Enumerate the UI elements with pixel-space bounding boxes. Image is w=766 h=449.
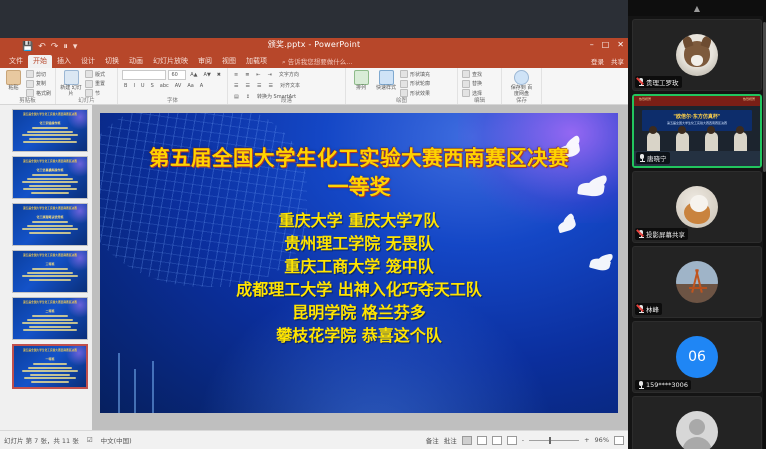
participant-tiles: 贵理工罗玫热烈祝贺热烈祝贺"欧倍尔·东方仿真杯"第五届全国大学生化工实验大赛西南… bbox=[628, 19, 766, 449]
thumbnail-text-line bbox=[29, 326, 71, 328]
ribbon-group-clipboard: 粘贴 剪切 复制 格式刷 bbox=[0, 68, 56, 104]
thumbnail-text-line bbox=[22, 370, 77, 372]
thumbnail-text-line bbox=[22, 322, 79, 324]
thumbnail-title: 第五届全国大学生化工实验大赛西南赛区决赛 bbox=[16, 254, 84, 257]
video-person bbox=[734, 132, 747, 151]
replace-label: 替换 bbox=[472, 80, 482, 87]
desktop-background bbox=[0, 0, 628, 38]
spell-check-icon[interactable]: ☑ bbox=[87, 436, 93, 444]
video-banner-subtitle: 第五届全国大学生化工实验大赛西南赛区决赛 bbox=[642, 121, 753, 125]
wolf-avatar-icon bbox=[684, 41, 710, 67]
quick-styles-label: 快速样式 bbox=[376, 86, 396, 92]
align-text-button[interactable]: 对齐文本 bbox=[278, 81, 302, 90]
slide-editing-area[interactable]: 第五届全国大学生化工实验大赛西南赛区决赛 一等奖 重庆大学 重庆大学7队贵州理工… bbox=[92, 105, 628, 430]
participant-name: 投影屏幕共享 bbox=[646, 229, 685, 239]
font-tool-5[interactable]: AV bbox=[173, 82, 184, 90]
winner-line: 攀枝花学院 恭喜这个队 bbox=[100, 324, 618, 347]
mic-muted-icon bbox=[638, 78, 644, 86]
slide-thumbnail[interactable]: 3第五届全国大学生化工实验大赛西南赛区决赛化工仿真模拟操作奖 bbox=[12, 156, 88, 199]
view-sorter-button[interactable] bbox=[477, 436, 487, 445]
thumbnail-lines bbox=[18, 268, 82, 282]
current-slide[interactable]: 第五届全国大学生化工实验大赛西南赛区决赛 一等奖 重庆大学 重庆大学7队贵州理工… bbox=[100, 113, 618, 413]
thumbnail-subtitle: 三等奖 bbox=[16, 262, 84, 266]
layout-label: 版式 bbox=[95, 71, 105, 78]
ribbon-group-paragraph: ≡ ≣ ⇤ ⇥ 文字方向 ☰ ☰ ☰ ☰ 对齐文本 ▤ bbox=[228, 68, 346, 104]
shape-outline-label: 形状轮廓 bbox=[410, 80, 430, 87]
thumbnail-title: 第五届全国大学生化工实验大赛西南赛区决赛 bbox=[16, 160, 84, 163]
decrease-indent-icon[interactable]: ⇤ bbox=[254, 71, 262, 79]
shape-fill-label: 形状填充 bbox=[410, 71, 430, 78]
thumbnail-text-line bbox=[23, 141, 76, 143]
thumbnail-title: 第五届全国大学生化工实验大赛西南赛区决赛 bbox=[16, 301, 84, 304]
participant-name-bar: 贵理工罗玫 bbox=[635, 76, 682, 88]
screen: 💾 ↶ ↷ ⏸ ▾ 颁奖.pptx - PowerPoint – □ ✕ 文件开… bbox=[0, 0, 766, 449]
ribbon-tab-3[interactable]: 设计 bbox=[76, 55, 100, 68]
video-person bbox=[676, 132, 689, 151]
font-tool-6[interactable]: Aa bbox=[185, 82, 195, 90]
shape-outline-button[interactable]: 形状轮廓 bbox=[400, 80, 430, 88]
increase-indent-icon[interactable]: ⇥ bbox=[266, 71, 274, 79]
arrange-button[interactable]: 排列 bbox=[350, 70, 372, 92]
thumbnail-text-line bbox=[32, 174, 67, 176]
group-name-paragraph: 段落 bbox=[228, 96, 345, 104]
group-name-slides: 幻灯片 bbox=[56, 96, 117, 104]
bridge-deck bbox=[689, 287, 707, 289]
thumbnail-lines bbox=[18, 221, 82, 235]
zoom-out-button[interactable]: - bbox=[522, 436, 524, 444]
slide-title: 第五届全国大学生化工实验大赛西南赛区决赛 bbox=[100, 141, 618, 171]
thumbnail-text-line bbox=[33, 363, 67, 365]
avatar bbox=[676, 411, 718, 449]
ribbon-tab-6[interactable]: 幻灯片放映 bbox=[148, 55, 193, 68]
decrease-font-size-button[interactable]: A▼ bbox=[202, 71, 213, 79]
window-controls[interactable]: – □ ✕ bbox=[590, 40, 624, 49]
paste-button[interactable]: 粘贴 bbox=[4, 70, 23, 92]
slide-thumbnail[interactable]: 5第五届全国大学生化工实验大赛西南赛区决赛三等奖 bbox=[12, 250, 88, 293]
thumbnail-text-line bbox=[22, 134, 79, 136]
fit-slide-button[interactable] bbox=[614, 436, 624, 445]
font-tool-0[interactable]: B bbox=[122, 82, 129, 90]
font-tool-2[interactable]: U bbox=[139, 82, 147, 90]
language-text[interactable]: 中文(中国) bbox=[101, 435, 132, 445]
thumbnail-text-line bbox=[29, 232, 71, 234]
winner-list: 重庆大学 重庆大学7队贵州理工学院 无畏队重庆工商大学 笼中队成都理工大学 出神… bbox=[100, 209, 618, 347]
reset-icon bbox=[85, 80, 93, 88]
thumbnail-text-line bbox=[27, 272, 73, 274]
thumbnail-text-line bbox=[32, 268, 67, 270]
video-person bbox=[705, 132, 718, 151]
zoom-in-button[interactable]: + bbox=[584, 436, 589, 444]
copy-button[interactable]: 复制 bbox=[26, 80, 51, 88]
tell-me-search[interactable]: ⌕ 告诉我您想要做什么... bbox=[282, 56, 352, 67]
zoom-slider[interactable] bbox=[529, 440, 579, 441]
thumbnail-text-line bbox=[22, 275, 79, 277]
thumbnail-text-line bbox=[22, 181, 79, 183]
winner-line: 成都理工大学 出神入化巧夺天工队 bbox=[100, 278, 618, 301]
slide-thumbnail[interactable]: 6第五届全国大学生化工实验大赛西南赛区决赛二等奖 bbox=[12, 297, 88, 340]
ribbon-tab-5[interactable]: 动画 bbox=[124, 55, 148, 68]
paste-label: 粘贴 bbox=[8, 86, 18, 92]
participant-name-bar: 159****3006 bbox=[635, 380, 691, 390]
close-button[interactable]: ✕ bbox=[617, 40, 624, 49]
font-size-input[interactable]: 60 bbox=[168, 70, 186, 80]
mic-muted-icon bbox=[638, 305, 644, 313]
avatar-initials: 06 bbox=[688, 349, 706, 365]
account-label[interactable]: 登录 bbox=[591, 56, 604, 66]
thumbnail-lines bbox=[18, 315, 82, 333]
video-side-banner-right: 热烈祝贺 bbox=[743, 97, 755, 101]
ribbon-right-controls[interactable]: 登录 共享 bbox=[591, 56, 624, 66]
group-name-font: 字体 bbox=[118, 96, 227, 104]
copy-icon bbox=[26, 80, 34, 88]
participant-tile[interactable]: 贵理工罗玫 bbox=[632, 19, 762, 91]
ribbon-tab-2[interactable]: 插入 bbox=[52, 55, 76, 68]
ribbon-group-font: 60 A▲ A▼ ✖ BIUSabcAVAaA 字体 bbox=[118, 68, 228, 104]
ribbon-tab-4[interactable]: 切换 bbox=[100, 55, 124, 68]
thumbnail-title: 第五届全国大学生化工实验大赛西南赛区决赛 bbox=[17, 349, 83, 352]
ribbon-group-editing: 查找 替换 选择 编辑 bbox=[458, 68, 502, 104]
font-tools[interactable]: BIUSabcAVAaA bbox=[122, 82, 223, 90]
restore-button[interactable]: □ bbox=[602, 40, 610, 49]
new-slide-icon bbox=[64, 70, 79, 85]
shape-outline-icon bbox=[400, 80, 408, 88]
font-tool-4[interactable]: abc bbox=[158, 82, 171, 90]
participant-name: 林峰 bbox=[646, 304, 659, 314]
notes-button[interactable]: 备注 bbox=[426, 435, 439, 445]
winner-line: 重庆工商大学 笼中队 bbox=[100, 255, 618, 278]
ribbon-tab-1[interactable]: 开始 bbox=[28, 55, 52, 68]
thumbnail-text-line bbox=[32, 315, 67, 317]
participant-tile[interactable]: 投影屏幕共享 bbox=[632, 171, 762, 243]
ribbon-tab-0[interactable]: 文件 bbox=[4, 55, 28, 68]
thumbnail-subtitle: 化工原理笔试优秀奖 bbox=[16, 215, 84, 219]
font-tool-1[interactable]: I bbox=[131, 82, 136, 90]
justify-icon[interactable]: ☰ bbox=[266, 82, 274, 90]
ribbon-group-slides: 新建 幻灯片 版式 重置 节 bbox=[56, 68, 118, 104]
slide-thumbnail-panel[interactable]: 2第五届全国大学生化工实验大赛西南赛区决赛化工实验操作奖3第五届全国大学生化工实… bbox=[0, 105, 92, 430]
comments-button[interactable]: 批注 bbox=[444, 435, 457, 445]
thumbnail-text-line bbox=[27, 131, 73, 133]
scissors-icon bbox=[26, 70, 34, 78]
increase-font-size-button[interactable]: A▲ bbox=[188, 71, 199, 79]
mic-icon bbox=[638, 381, 644, 389]
ribbon-tab-7[interactable]: 审阅 bbox=[193, 55, 217, 68]
group-name-clipboard: 剪贴板 bbox=[0, 96, 55, 104]
participant-name-bar: 投影屏幕共享 bbox=[635, 228, 688, 240]
shape-fill-icon bbox=[400, 70, 408, 78]
participant-tile[interactable]: 热烈祝贺热烈祝贺"欧倍尔·东方仿真杯"第五届全国大学生化工实验大赛西南赛区决赛唐… bbox=[632, 94, 762, 168]
align-center-icon[interactable]: ☰ bbox=[243, 82, 251, 90]
share-button[interactable]: 共享 bbox=[611, 56, 624, 66]
thumbnail-text-line bbox=[31, 381, 68, 383]
layout-button[interactable]: 版式 bbox=[85, 70, 105, 78]
font-tool-3[interactable]: S bbox=[149, 82, 156, 90]
new-slide-button[interactable]: 新建 幻灯片 bbox=[60, 70, 82, 97]
font-tool-7[interactable]: A bbox=[198, 82, 205, 90]
thumbnail-subtitle: 二等奖 bbox=[16, 309, 84, 313]
cut-button[interactable]: 剪切 bbox=[26, 70, 51, 78]
participant-name: 贵理工罗玫 bbox=[646, 77, 679, 87]
thumbnail-lines bbox=[18, 174, 82, 196]
participant-panel: ▲ 贵理工罗玫热烈祝贺热烈祝贺"欧倍尔·东方仿真杯"第五届全国大学生化工实验大赛… bbox=[628, 0, 766, 449]
clear-formatting-icon[interactable]: ✖ bbox=[215, 71, 223, 79]
participant-tile[interactable]: 林峰 bbox=[632, 246, 762, 318]
reset-label: 重置 bbox=[95, 80, 105, 87]
thumbnail-text-line bbox=[27, 319, 73, 321]
view-slideshow-button[interactable] bbox=[507, 436, 517, 445]
numbering-icon[interactable]: ≣ bbox=[243, 71, 251, 79]
quick-styles-button[interactable]: 快速样式 bbox=[375, 70, 397, 92]
replace-icon bbox=[462, 80, 470, 88]
participant-tile[interactable] bbox=[632, 396, 762, 449]
zoom-level-text[interactable]: 96% bbox=[595, 436, 609, 444]
chevron-up-icon[interactable]: ▲ bbox=[628, 0, 766, 16]
thumbnail-text-line bbox=[28, 367, 73, 369]
window-title: 颁奖.pptx - PowerPoint bbox=[0, 39, 628, 50]
ribbon-tab-9[interactable]: 加载项 bbox=[241, 55, 272, 68]
participant-name: 唐晓宁 bbox=[647, 153, 667, 163]
participant-name-bar: 林峰 bbox=[635, 303, 662, 315]
slide-prize-label: 一等奖 bbox=[100, 171, 618, 201]
thumbnail-text-line bbox=[22, 228, 79, 230]
save-to-baidu-button[interactable]: 保存到 百度网盘 bbox=[511, 70, 533, 97]
thumbnail-text-line bbox=[32, 221, 67, 223]
thumbnail-subtitle: 化工仿真模拟操作奖 bbox=[16, 168, 84, 172]
zoom-slider-knob[interactable] bbox=[549, 437, 551, 444]
mic-icon bbox=[639, 154, 645, 162]
winner-line: 贵州理工学院 无畏队 bbox=[100, 232, 618, 255]
avatar: 06 bbox=[676, 336, 718, 378]
avatar bbox=[676, 186, 718, 228]
ribbon-tab-8[interactable]: 视图 bbox=[217, 55, 241, 68]
thumbnail-text-line bbox=[27, 178, 73, 180]
shape-fill-button[interactable]: 形状填充 bbox=[400, 70, 430, 78]
thumbnail-text-line bbox=[23, 188, 76, 190]
slide-thumbnail[interactable]: 4第五届全国大学生化工实验大赛西南赛区决赛化工原理笔试优秀奖 bbox=[12, 203, 88, 246]
copy-label: 复制 bbox=[36, 80, 46, 87]
slide-position-text: 幻灯片 第 7 张，共 11 张 bbox=[4, 435, 79, 445]
ribbon-group-drawing: 排列 快速样式 形状填充 形状轮廓 bbox=[346, 68, 458, 104]
avatar bbox=[676, 261, 718, 303]
align-right-icon[interactable]: ☰ bbox=[255, 82, 263, 90]
align-left-icon[interactable]: ☰ bbox=[232, 82, 240, 90]
group-name-save: 保存 bbox=[502, 96, 541, 104]
participant-name: 159****3006 bbox=[646, 381, 688, 389]
derrick-decoration bbox=[152, 361, 154, 413]
minimize-button[interactable]: – bbox=[590, 40, 594, 49]
derrick-decoration bbox=[134, 369, 136, 413]
thumbnail-text-line bbox=[29, 279, 71, 281]
group-name-drawing: 绘图 bbox=[346, 96, 457, 104]
view-reading-button[interactable] bbox=[492, 436, 502, 445]
thumbnail-lines bbox=[18, 127, 82, 145]
person-avatar-body bbox=[682, 437, 712, 449]
replace-button[interactable]: 替换 bbox=[462, 80, 497, 88]
text-direction-button[interactable]: 文字方向 bbox=[277, 70, 301, 79]
slide-thumbnail[interactable]: 7第五届全国大学生化工实验大赛西南赛区决赛一等奖 bbox=[12, 344, 88, 389]
find-button[interactable]: 查找 bbox=[462, 70, 497, 78]
slide-thumbnail[interactable]: 2第五届全国大学生化工实验大赛西南赛区决赛化工实验操作奖 bbox=[12, 109, 88, 152]
thumbnail-text-line bbox=[29, 185, 71, 187]
video-banner-title: "欧倍尔·东方仿真杯" bbox=[642, 113, 753, 120]
workspace: 2第五届全国大学生化工实验大赛西南赛区决赛化工实验操作奖3第五届全国大学生化工实… bbox=[0, 105, 628, 430]
reset-button[interactable]: 重置 bbox=[85, 80, 105, 88]
cut-label: 剪切 bbox=[36, 71, 46, 78]
font-name-input[interactable] bbox=[122, 70, 166, 80]
avatar bbox=[676, 34, 718, 76]
layout-icon bbox=[85, 70, 93, 78]
person-avatar-icon bbox=[689, 419, 705, 435]
winner-line: 重庆大学 重庆大学7队 bbox=[100, 209, 618, 232]
status-bar: 幻灯片 第 7 张，共 11 张 ☑ 中文(中国) 备注 批注 - + 96% bbox=[0, 430, 628, 449]
thumbnail-text-line bbox=[30, 374, 71, 376]
mic-muted-icon bbox=[638, 230, 644, 238]
powerpoint-window: 💾 ↶ ↷ ⏸ ▾ 颁奖.pptx - PowerPoint – □ ✕ 文件开… bbox=[0, 0, 628, 449]
thumbnail-title: 第五届全国大学生化工实验大赛西南赛区决赛 bbox=[16, 113, 84, 116]
video-side-banner-left: 热烈祝贺 bbox=[639, 97, 651, 101]
search-icon bbox=[462, 70, 470, 78]
cloud-icon bbox=[514, 70, 529, 85]
video-person bbox=[647, 132, 660, 151]
derrick-decoration bbox=[118, 353, 120, 413]
thumbnail-lines bbox=[19, 363, 81, 385]
arrange-label: 排列 bbox=[356, 86, 366, 92]
wolf-snout bbox=[691, 55, 703, 66]
find-label: 查找 bbox=[472, 71, 482, 78]
arrange-icon bbox=[354, 70, 369, 85]
bullets-icon[interactable]: ≡ bbox=[232, 71, 240, 79]
thumbnail-title: 第五届全国大学生化工实验大赛西南赛区决赛 bbox=[16, 207, 84, 210]
thumbnail-text-line bbox=[29, 138, 71, 140]
ribbon-tabs[interactable]: 文件开始插入设计切换动画幻灯片放映审阅视图加载项⌕ 告诉我您想要做什么... bbox=[0, 55, 628, 68]
thumbnail-subtitle: 化工实验操作奖 bbox=[16, 121, 84, 125]
thumbnail-text-line bbox=[32, 127, 67, 129]
winner-line: 昆明学院 格兰芬多 bbox=[100, 301, 618, 324]
thumbnail-text-line bbox=[23, 329, 76, 331]
dog-avatar-highlight bbox=[690, 195, 708, 212]
thumbnail-text-line bbox=[27, 225, 73, 227]
group-name-editing: 编辑 bbox=[458, 96, 501, 104]
quick-styles-icon bbox=[379, 70, 394, 85]
thumbnail-subtitle: 一等奖 bbox=[17, 357, 83, 361]
thumbnail-text-line bbox=[31, 192, 69, 194]
video-backdrop-top: 热烈祝贺热烈祝贺 bbox=[634, 96, 760, 106]
paste-icon bbox=[6, 70, 21, 85]
ribbon: 粘贴 剪切 复制 格式刷 bbox=[0, 68, 628, 105]
participant-tile[interactable]: 06159****3006 bbox=[632, 321, 762, 393]
view-normal-button[interactable] bbox=[462, 436, 472, 445]
participant-name-bar: 唐晓宁 bbox=[636, 152, 670, 164]
thumbnail-text-line bbox=[24, 377, 75, 379]
ribbon-group-save: 保存到 百度网盘 保存 bbox=[502, 68, 542, 104]
